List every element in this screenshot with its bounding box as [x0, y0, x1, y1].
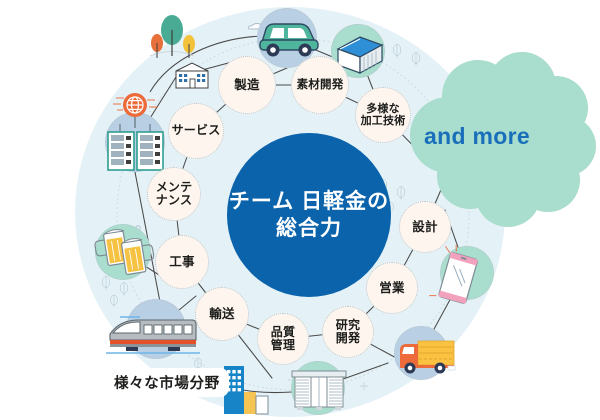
- ring-label-seizo[interactable]: 製造: [218, 56, 276, 114]
- delivery-truck-icon: [400, 341, 455, 374]
- ring-label-text: 多様な: [361, 103, 406, 115]
- ring-label-text: 製造: [234, 78, 259, 92]
- ring-label-hinshitsu-kanri[interactable]: 品質 管理: [257, 313, 309, 365]
- ring-label-maintenance[interactable]: メンテ ナンス: [147, 167, 201, 221]
- orange-globe-icon: [113, 93, 158, 128]
- factory-icon: [176, 63, 208, 88]
- ring-label-sekkei[interactable]: 設計: [399, 201, 451, 253]
- ring-label-text: 営業: [379, 281, 404, 295]
- ring-label-text: 管理: [271, 339, 295, 352]
- ring-label-yuso[interactable]: 輸送: [195, 287, 249, 341]
- ring-label-text: サービス: [172, 124, 221, 137]
- autumn-trees-icon: [150, 15, 195, 58]
- ring-label-service[interactable]: サービス: [168, 103, 224, 159]
- bullet-train-icon: [106, 317, 200, 353]
- ring-label-text: 加工技術: [361, 115, 406, 127]
- ring-label-text: ナンス: [156, 194, 193, 207]
- ring-label-text: 研究: [336, 319, 360, 332]
- ring-label-text: 輸送: [209, 307, 234, 321]
- ring-label-text: メンテ: [156, 181, 193, 194]
- ring-label-text: 工事: [169, 255, 194, 269]
- ring-label-kenkyu-kaihatsu[interactable]: 研究 開発: [322, 306, 374, 358]
- market-badge: 様々な市場分野: [105, 368, 229, 397]
- blue-roof-house-icon: [338, 37, 382, 73]
- ring-label-tayona-kako-gijutsu[interactable]: 多様な 加工技術: [355, 87, 411, 143]
- ring-label-eigyo[interactable]: 営業: [366, 262, 418, 314]
- ring-label-text: 開発: [336, 332, 360, 345]
- smartphone-icon: [429, 242, 480, 306]
- ring-label-text: 設計: [412, 220, 437, 234]
- ring-label-text: 品質: [271, 326, 295, 339]
- beer-mugs-icon: [93, 228, 156, 274]
- ring-label-text: 素材開発: [297, 79, 344, 92]
- ring-label-koji[interactable]: 工事: [155, 235, 209, 289]
- green-car-icon: [260, 24, 318, 57]
- shutter-building-icon: [292, 371, 346, 410]
- ring-label-sozai-kaihatsu[interactable]: 素材開発: [291, 56, 349, 114]
- server-rack-icon: [108, 124, 163, 170]
- office-building-icon: [224, 366, 268, 414]
- infographic-canvas: and more チーム 日軽金の 総合力: [0, 0, 600, 420]
